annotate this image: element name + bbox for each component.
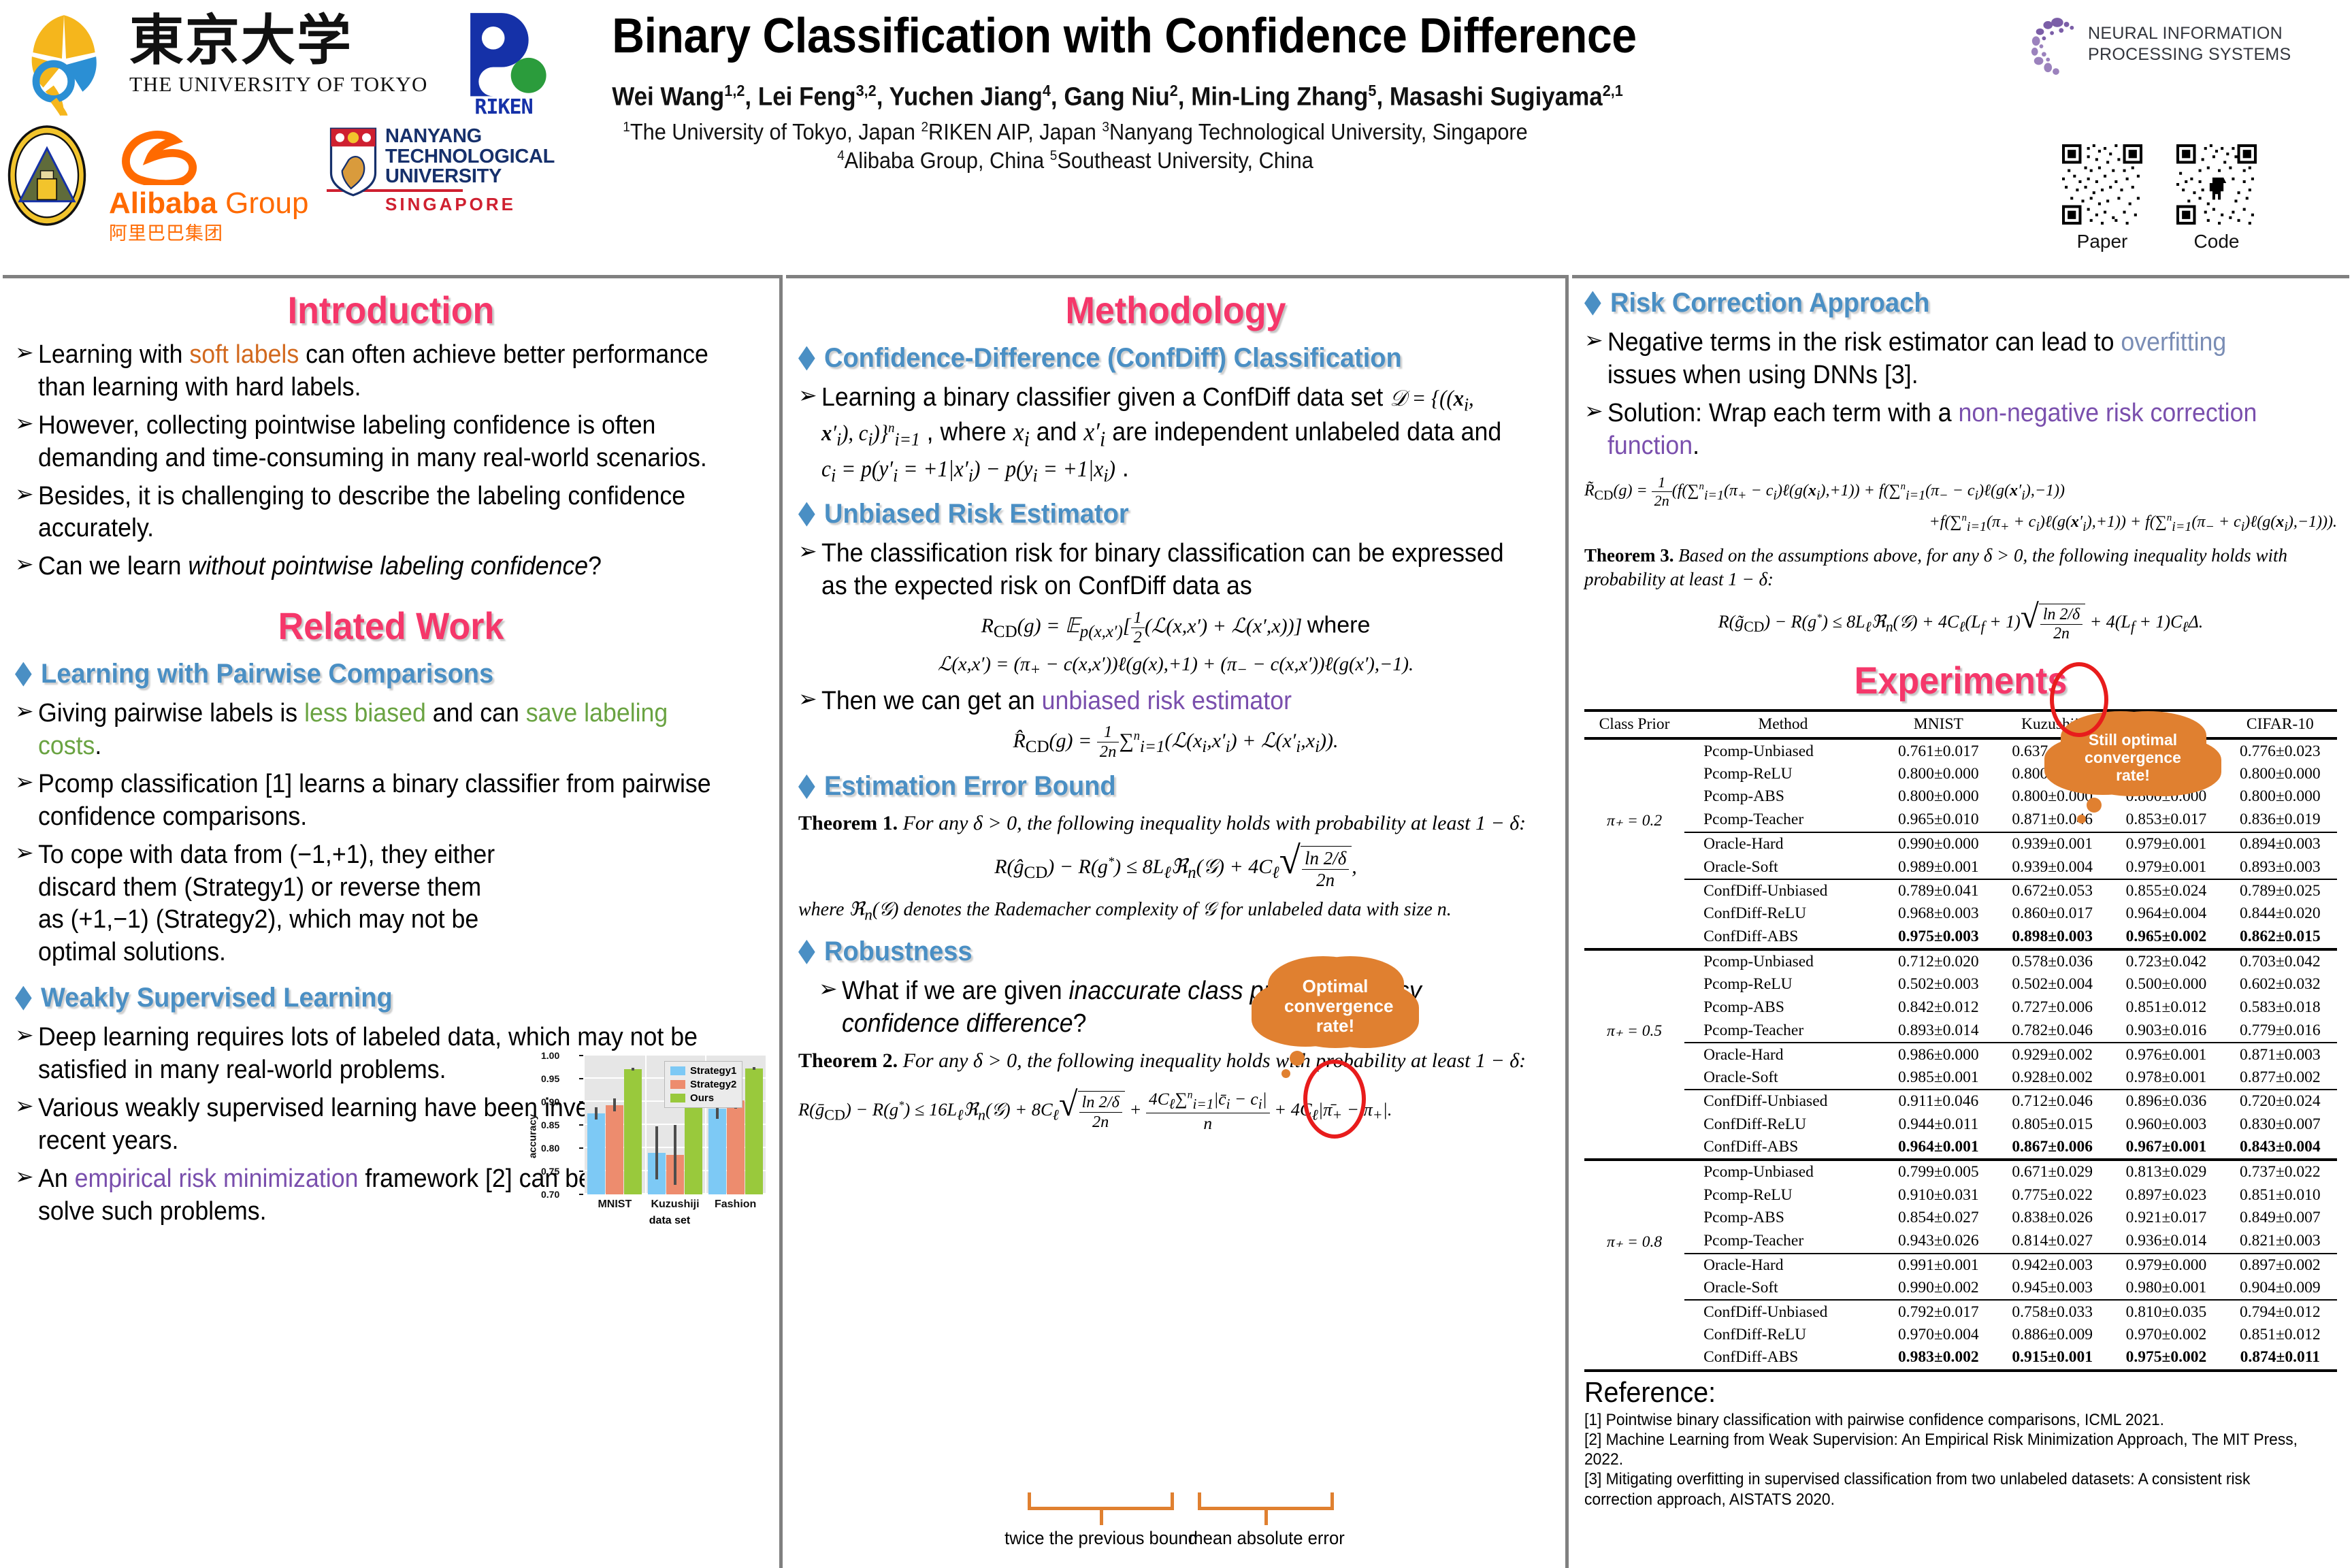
cell-value: 0.867±0.006 [1995,1136,2109,1160]
chart-bar [624,1069,642,1194]
cell-value: 0.960±0.003 [2109,1113,2223,1135]
cell-value: 0.776±0.023 [2223,738,2337,762]
diamond-bullet-icon [1584,291,1601,316]
list-item: ➢Besides, it is challenging to describe … [15,480,767,546]
cell-value: 0.830±0.007 [2223,1113,2337,1135]
cell-value: 0.720±0.024 [2223,1090,2337,1113]
cell-method: Oracle-Hard [1684,832,1882,855]
col-class-prior: Class Prior [1584,710,1684,738]
chart-legend-label: Ours [690,1092,714,1104]
reference-item: [1] Pointwise binary classification with… [1584,1410,2300,1430]
theorem-1: Theorem 1. For any δ > 0, the following … [798,810,1553,836]
ure-text: The classification risk for binary class… [821,538,1509,603]
cell-method: Oracle-Soft [1684,855,1882,879]
brace-right-nub [1264,1510,1268,1525]
cell-value: 0.939±0.004 [1995,855,2109,879]
brace-right-caption: mean absolute error [1188,1528,1345,1549]
subsection-risk-correction: Risk Correction Approach [1584,288,2300,318]
theorem-1-label: Theorem 1. [798,812,898,834]
cell-value: 0.985±0.001 [1882,1066,1995,1090]
theorem-3-label: Theorem 3. [1584,545,1673,566]
results-table-header: Class Prior Method MNIST Kuzushiji Fashi… [1584,710,2337,738]
cell-value: 0.672±0.053 [1995,879,2109,902]
cell-value: 0.979±0.001 [2109,832,2223,855]
bullet-arrow-icon: ➢ [1584,327,1607,355]
cell-method: Pcomp-Teacher [1684,808,1882,832]
chart-bar [606,1105,623,1194]
cell-method: ConfDiff-Unbiased [1684,1300,1882,1323]
cell-class-prior [1584,996,1684,1019]
cell-value: 0.943±0.026 [1882,1229,1995,1253]
cell-value: 0.836±0.019 [2223,808,2337,832]
list-item: ➢Solution: Wrap each term with a non-neg… [1584,397,2337,463]
cell-class-prior [1584,763,1684,785]
cell-method: ConfDiff-ReLU [1684,1324,1882,1346]
cell-method: Oracle-Hard [1684,1254,1882,1277]
cell-value: 0.893±0.003 [2223,855,2337,879]
table-row: π₊ = 0.5Pcomp-Teacher0.893±0.0140.782±0.… [1584,1019,2337,1043]
cell-class-prior [1584,1160,1684,1183]
table-row: Oracle-Soft0.989±0.0010.939±0.0040.979±0… [1584,855,2337,879]
cell-value: 0.814±0.027 [1995,1229,2109,1253]
cell-value: 0.758±0.033 [1995,1300,2109,1323]
cell-method: ConfDiff-Unbiased [1684,879,1882,902]
bullet-arrow-icon: ➢ [15,698,38,725]
cell-value: 0.904±0.009 [2223,1277,2337,1300]
chart-error-bar [613,1098,616,1111]
list-item: ➢ What if we are given inaccurate class … [819,975,1553,1041]
qr-paper[interactable]: Paper [2062,144,2142,252]
qr-code-link[interactable]: Code [2176,144,2257,252]
cell-value: 0.975±0.002 [2109,1346,2223,1370]
cell-method: Pcomp-ReLU [1684,973,1882,996]
cell-value: 0.967±0.001 [2109,1136,2223,1160]
cell-method: Oracle-Soft [1684,1277,1882,1300]
cell-value: 0.970±0.002 [2109,1324,2223,1346]
bullet-arrow-icon: ➢ [1584,397,1607,425]
bullet-arrow-icon: ➢ [15,410,38,438]
chart-x-tick: MNIST [598,1198,632,1211]
theorem-2: Theorem 2. For any δ > 0, the following … [798,1047,1553,1074]
qr-code-icon[interactable] [2062,144,2142,225]
cell-value: 0.583±0.018 [2223,996,2337,1019]
cell-value: 0.915±0.001 [1995,1346,2109,1370]
affiliation-line-2: 4Alibaba Group, China 5Southeast Univers… [607,146,1543,175]
chart-legend-item: Strategy1 [670,1065,736,1077]
author-list: Wei Wang1,2, Lei Feng3,2, Yuchen Jiang4,… [612,82,1539,112]
cell-value: 0.991±0.001 [1882,1254,1995,1277]
cell-value: 0.800±0.000 [2223,785,2337,808]
cell-method: Oracle-Soft [1684,1066,1882,1090]
cell-value: 0.843±0.004 [2223,1136,2337,1160]
chart-legend-label: Strategy1 [690,1065,736,1077]
cell-value: 0.671±0.029 [1995,1160,2109,1183]
cell-method: Pcomp-ABS [1684,1207,1882,1229]
theorem-3-text: Based on the assumptions above, for any … [1584,545,2287,589]
cell-value: 0.792±0.017 [1882,1300,1995,1323]
cell-value: 0.921±0.017 [2109,1207,2223,1229]
chart-y-tick: 0.90 [541,1096,559,1107]
theorem-2-text: For any δ > 0, the following inequality … [903,1049,1526,1072]
cell-value: 0.860±0.017 [1995,902,2109,925]
cell-value: 0.799±0.005 [1882,1160,1995,1183]
cell-class-prior [1584,1346,1684,1370]
cell-value: 0.897±0.023 [2109,1184,2223,1207]
cell-class-prior [1584,832,1684,855]
cell-class-prior [1584,1043,1684,1066]
cell-method: ConfDiff-ABS [1684,1136,1882,1160]
cell-method: Pcomp-Teacher [1684,1229,1882,1253]
chart-bar [666,1155,684,1194]
theorem-2-formula: R(ḡCD) − R(g*) ≤ 16Lℓℜn(𝒢) + 8Cℓ√ln 2/δ2… [798,1089,1553,1134]
cell-value: 0.945±0.003 [1995,1277,2109,1300]
diamond-bullet-icon [798,502,815,527]
subsection-unbiased-risk-estimator: Unbiased Risk Estimator [798,499,1516,529]
cell-value: 0.877±0.002 [2223,1066,2337,1090]
chart-y-tick: 0.70 [541,1189,559,1200]
table-row: Oracle-Soft0.990±0.0020.945±0.0030.980±0… [1584,1277,2337,1300]
ci-definition-formula: ci = p(y′i = +1|x′i) − p(yi = +1|xi) [821,457,1115,482]
neurips-line-2: PROCESSING SYSTEMS [2088,44,2291,65]
ure-accent-text: unbiased risk estimator [1042,687,1292,715]
riken-wordmark: RIKEN [449,95,558,119]
col-cifar10: CIFAR-10 [2223,710,2337,738]
column-left: Introduction ➢Learning with soft labels … [3,275,783,1568]
cell-value: 0.838±0.026 [1995,1207,2109,1229]
table-row: Oracle-Soft0.985±0.0010.928±0.0020.978±0… [1584,1066,2337,1090]
list-item: ➢To cope with data from (−1,+1), they ei… [15,839,767,970]
chart-y-tick: 0.80 [541,1143,559,1154]
bullet-arrow-icon: ➢ [798,538,821,566]
bullet-arrow-icon: ➢ [15,551,38,578]
cell-method: ConfDiff-ABS [1684,925,1882,949]
neurips-logo: NEURAL INFORMATION PROCESSING SYSTEMS [2028,12,2341,87]
chart-y-axis-label: accuracy [527,1114,539,1158]
cell-class-prior: π₊ = 0.8 [1584,1229,1684,1253]
table-row: Pcomp-ABS0.842±0.0120.727±0.0060.851±0.0… [1584,996,2337,1019]
cell-value: 0.800±0.000 [2223,763,2337,785]
table-row: ConfDiff-ABS0.983±0.0020.915±0.0010.975±… [1584,1346,2337,1370]
cell-method: Oracle-Hard [1684,1043,1882,1066]
theorem-1-note: where ℜn(𝒢) denotes the Rademacher compl… [798,898,1553,926]
cell-value: 0.894±0.003 [2223,832,2337,855]
cell-value: 0.500±0.000 [2109,973,2223,996]
diamond-bullet-icon [798,346,815,371]
column-right: Risk Correction Approach ➢Negative terms… [1572,275,2349,1568]
poster-root: 東京大学 THE UNIVERSITY OF TOKYO RIKEN Aliba… [0,0,2352,1568]
affiliations: 1The University of Tokyo, Japan 2RIKEN A… [607,118,1543,175]
cell-value: 0.723±0.042 [2109,949,2223,973]
cell-value: 0.983±0.002 [1882,1346,1995,1370]
table-row: Pcomp-ReLU0.502±0.0030.502±0.0040.500±0.… [1584,973,2337,996]
cell-value: 0.821±0.003 [2223,1229,2337,1253]
cell-method: Pcomp-ReLU [1684,1184,1882,1207]
table-row: Oracle-Hard0.991±0.0010.942±0.0030.979±0… [1584,1254,2337,1277]
subsection-confdiff-classification: Confidence-Difference (ConfDiff) Classif… [798,343,1516,374]
neurips-line-1: NEURAL INFORMATION [2088,23,2291,44]
cell-value: 0.578±0.036 [1995,949,2109,973]
theorem-1-text: For any δ > 0, the following inequality … [903,812,1526,834]
chart-error-bar [632,1068,634,1071]
rcd-formula: RCD(g) = 𝔼p(x,x′)[12(ℒ(x,x′) + ℒ(x′,x))]… [798,608,1553,647]
rcd-hat-formula: R̂CD(g) = 12n∑ni=1(ℒ(xi,x′i) + ℒ(x′i,xi)… [798,723,1553,762]
diamond-bullet-icon [798,774,815,799]
diamond-bullet-icon [15,662,32,687]
cell-value: 0.970±0.004 [1882,1324,1995,1346]
ure-bullets: ➢ The classification risk for binary cla… [798,538,1553,603]
cell-value: 0.854±0.027 [1882,1207,1995,1229]
bullet-arrow-icon: ➢ [15,839,38,867]
chart-error-bar [655,1126,658,1179]
diamond-bullet-icon [798,940,815,964]
diamond-bullet-icon [15,986,32,1011]
cell-class-prior [1584,1324,1684,1346]
cell-value: 0.929±0.002 [1995,1043,2109,1066]
poster-body: Introduction ➢Learning with soft labels … [0,275,2352,1568]
chart-plot-area: Strategy1Strategy2Ours [585,1056,766,1194]
chart-y-tick: 0.75 [541,1166,559,1177]
alibaba-mark-icon [109,129,252,185]
qr-code-icon[interactable] [2176,144,2257,225]
chart-bar [685,1102,702,1194]
cell-class-prior [1584,738,1684,762]
cell-class-prior [1584,1277,1684,1300]
cell-value: 0.853±0.017 [2109,808,2223,832]
reference-item: [3] Mitigating overfitting in supervised… [1584,1469,2300,1509]
confdiff-text-pre: Learning a binary classifier given a Con… [821,383,1383,412]
utokyo-wordmark: 東京大学 THE UNIVERSITY OF TOKYO [129,14,429,102]
cell-value: 0.851±0.012 [2223,1324,2337,1346]
related-work-bullets-1: ➢Giving pairwise labels is less biased a… [15,698,767,969]
xi-symbol: xi [1013,418,1030,446]
callout-optimal-convergence: Optimal convergence rate! [1273,964,1397,1048]
alibaba-chinese-name: 阿里巴巴集团 [109,218,313,245]
col-method: Method [1684,710,1882,738]
section-title-experiments: Experiments [1611,658,2311,702]
subsection-weakly-supervised: Weakly Supervised Learning [15,983,730,1013]
chart-tick-mark [579,1171,583,1172]
chart-tick-mark [579,1101,583,1102]
cell-value: 0.964±0.001 [1882,1136,1995,1160]
cell-value: 0.942±0.003 [1995,1254,2109,1277]
cell-method: ConfDiff-Unbiased [1684,1090,1882,1113]
table-row: π₊ = 0.2Pcomp-Teacher0.965±0.0100.871±0.… [1584,808,2337,832]
table-row: Pcomp-Unbiased0.712±0.0200.578±0.0360.72… [1584,949,2337,973]
cell-value: 0.805±0.015 [1995,1113,2109,1135]
cell-value: 0.794±0.012 [2223,1300,2337,1323]
cell-value: 0.989±0.001 [1882,855,1995,879]
risk-correction-bullets: ➢Negative terms in the risk estimator ca… [1584,327,2337,463]
cell-value: 0.886±0.009 [1995,1324,2109,1346]
theorem-2-label: Theorem 2. [798,1049,898,1072]
cell-value: 0.851±0.010 [2223,1184,2337,1207]
cell-value: 0.502±0.003 [1882,973,1995,996]
cell-value: 0.851±0.012 [2109,996,2223,1019]
highlight-ellipse-theorem1 [1303,1060,1366,1139]
table-row: π₊ = 0.8Pcomp-Teacher0.943±0.0260.814±0.… [1584,1229,2337,1253]
chart-legend: Strategy1Strategy2Ours [664,1061,742,1108]
chart-x-axis-label: data set [649,1215,690,1227]
subsection-pairwise-comparisons: Learning with Pairwise Comparisons [15,659,730,689]
cell-value: 0.862±0.015 [2223,925,2337,949]
table-row: Pcomp-ReLU0.800±0.0000.800±0.0000.800±0.… [1584,763,2337,785]
cell-class-prior [1584,1184,1684,1207]
list-item: ➢Giving pairwise labels is less biased a… [15,698,767,763]
list-item: ➢Negative terms in the risk estimator ca… [1584,327,2337,392]
cell-value: 0.976±0.001 [2109,1043,2223,1066]
robustness-bullets: ➢ What if we are given inaccurate class … [798,975,1553,1041]
cell-value: 0.737±0.022 [2223,1160,2337,1183]
section-title-introduction: Introduction [42,288,741,332]
chart-bar [745,1068,763,1194]
table-row: Pcomp-ReLU0.910±0.0310.775±0.0220.897±0.… [1584,1184,2337,1207]
section-title-related-work: Related Work [42,604,741,648]
cell-value: 0.990±0.000 [1882,832,1995,855]
cell-method: Pcomp-Unbiased [1684,949,1882,973]
utokyo-english-name: THE UNIVERSITY OF TOKYO [129,72,429,97]
table-row: ConfDiff-ReLU0.970±0.0040.886±0.0090.970… [1584,1324,2337,1346]
ure-bullets-2: ➢ Then we can get an unbiased risk estim… [798,685,1553,718]
cell-value: 0.789±0.025 [2223,879,2337,902]
chart-legend-swatch [670,1066,685,1075]
cell-value: 0.789±0.041 [1882,879,1995,902]
reference-item: [2] Machine Learning from Weak Supervisi… [1584,1430,2300,1470]
cell-value: 0.979±0.000 [2109,1254,2223,1277]
table-row: Pcomp-Unbiased0.761±0.0170.637±0.0520.73… [1584,738,2337,762]
cell-value: 0.727±0.006 [1995,996,2109,1019]
cell-value: 0.990±0.002 [1882,1277,1995,1300]
corrected-risk-formula: R̃CD(g) = 12n(f(∑ni=1(π+ − ci)ℓ(g(xi),+1… [1584,474,2337,535]
cell-class-prior [1584,925,1684,949]
bullet-arrow-icon: ➢ [15,1022,38,1049]
cell-class-prior [1584,1090,1684,1113]
cell-value: 0.502±0.004 [1995,973,2109,996]
bullet-arrow-icon: ➢ [15,1092,38,1120]
cell-value: 0.874±0.011 [2223,1346,2337,1370]
bullet-arrow-icon: ➢ [15,768,38,796]
cell-method: Pcomp-ReLU [1684,763,1882,785]
qr-code-caption: Code [2176,231,2257,252]
section-title-methodology: Methodology [825,288,1526,332]
chart-bar-group [585,1056,645,1194]
chart-y-tick: 1.00 [541,1050,559,1061]
cell-class-prior [1584,1113,1684,1135]
cell-class-prior [1584,879,1684,902]
table-row: Pcomp-ABS0.800±0.0000.800±0.0000.800±0.0… [1584,785,2337,808]
cell-value: 0.800±0.000 [1882,763,1995,785]
cell-value: 0.842±0.012 [1882,996,1995,1019]
highlight-ellipse-theorem3 [2050,662,2108,737]
bullet-arrow-icon: ➢ [15,1163,38,1191]
reference-heading: Reference: [1584,1376,2292,1409]
cell-value: 0.975±0.003 [1882,925,1995,949]
cell-class-prior [1584,785,1684,808]
cell-value: 0.964±0.004 [2109,902,2223,925]
chart-y-tick: 0.95 [541,1073,559,1084]
cell-value: 0.939±0.001 [1995,832,2109,855]
chart-error-bar [674,1125,676,1185]
cell-value: 0.911±0.046 [1882,1090,1995,1113]
cell-value: 0.903±0.016 [2109,1019,2223,1043]
cell-value: 0.897±0.002 [2223,1254,2337,1277]
table-row: ConfDiff-ABS0.964±0.0010.867±0.0060.967±… [1584,1136,2337,1160]
bullet-arrow-icon: ➢ [798,685,821,713]
theorem-1-formula: R(ĝCD) − R(g*) ≤ 8Lℓℜn(𝒢) + 4Cℓ√ln 2/δ2n… [798,846,1553,891]
callout-optimal-convergence-text: Optimal convergence rate! [1273,964,1397,1048]
chart-tick-mark [579,1124,583,1126]
chart-legend-swatch [670,1094,685,1102]
alibaba-wordmark: Alibaba Group [109,189,313,218]
cell-method: Pcomp-ABS [1684,996,1882,1019]
table-row: Pcomp-Unbiased0.799±0.0050.671±0.0290.81… [1584,1160,2337,1183]
chart-legend-item: Ours [670,1092,736,1104]
loss-definition-formula: ℒ(x,x′) = (π+ − c(x,x′))ℓ(g(x),+1) + (π−… [798,653,1553,680]
cell-value: 0.602±0.032 [2223,973,2337,996]
cell-value: 0.928±0.002 [1995,1066,2109,1090]
cell-value: 0.703±0.042 [2223,949,2337,973]
cell-value: 0.775±0.022 [1995,1184,2109,1207]
cell-value: 0.896±0.036 [2109,1090,2223,1113]
cell-value: 0.779±0.016 [2223,1019,2337,1043]
strategy-accuracy-chart: accuracy 0.700.750.800.850.900.951.00 St… [532,1046,770,1230]
chart-tick-mark [579,1055,583,1056]
table-row: Pcomp-ABS0.854±0.0270.838±0.0260.921±0.0… [1584,1207,2337,1229]
cell-value: 0.910±0.031 [1882,1184,1995,1207]
cell-class-prior [1584,949,1684,973]
list-item: ➢ Learning a binary classifier given a C… [798,382,1553,488]
bullet-arrow-icon: ➢ [819,975,842,1003]
cell-class-prior [1584,902,1684,925]
cell-value: 0.849±0.007 [2223,1207,2337,1229]
chart-x-tick: Fashion [715,1198,756,1211]
subsection-estimation-error-bound: Estimation Error Bound [798,771,1516,802]
neurips-wordmark: NEURAL INFORMATION PROCESSING SYSTEMS [2088,23,2291,65]
xi-prime-symbol: x′i [1083,418,1105,446]
cell-value: 0.810±0.035 [2109,1300,2223,1323]
table-row: Oracle-Hard0.990±0.0000.939±0.0010.979±0… [1584,832,2337,855]
title-block: Binary Classification with Confidence Di… [572,8,1579,175]
cell-value: 0.712±0.020 [1882,949,1995,973]
chart-x-tick: Kuzushiji [651,1198,699,1211]
list-item: ➢ Then we can get an unbiased risk estim… [798,685,1553,718]
cell-method: ConfDiff-ReLU [1684,902,1882,925]
results-table-body: Pcomp-Unbiased0.761±0.0170.637±0.0520.73… [1584,738,2337,1370]
chart-tick-mark [579,1194,583,1195]
bullet-arrow-icon: ➢ [15,480,38,508]
cell-value: 0.800±0.000 [1882,785,1995,808]
page-title: Binary Classification with Confidence Di… [612,8,1539,64]
cell-class-prior [1584,1300,1684,1323]
cell-method: Pcomp-Teacher [1684,1019,1882,1043]
utokyo-japanese-name: 東京大学 [129,14,429,68]
cell-class-prior [1584,1207,1684,1229]
table-row: ConfDiff-ReLU0.944±0.0110.805±0.0150.960… [1584,1113,2337,1135]
list-item: ➢However, collecting pointwise labeling … [15,410,767,475]
cell-method: Pcomp-ABS [1684,785,1882,808]
brace-left-nub [1100,1510,1103,1525]
cell-value: 0.893±0.014 [1882,1019,1995,1043]
table-row: ConfDiff-Unbiased0.792±0.0170.758±0.0330… [1584,1300,2337,1323]
confdiff-bullets: ➢ Learning a binary classifier given a C… [798,382,1553,488]
list-item: ➢Can we learn without pointwise labeling… [15,551,767,583]
results-table: Class Prior Method MNIST Kuzushiji Fashi… [1584,709,2337,1371]
ntu-crest-icon [327,127,380,197]
chart-bar [727,1100,745,1194]
cell-value: 0.965±0.002 [2109,925,2223,949]
bullet-arrow-icon: ➢ [798,382,821,410]
ntu-logo: NANYANG TECHNOLOGICAL UNIVERSITY SINGAPO… [327,127,558,229]
subsection-robustness: Robustness [798,936,1516,967]
